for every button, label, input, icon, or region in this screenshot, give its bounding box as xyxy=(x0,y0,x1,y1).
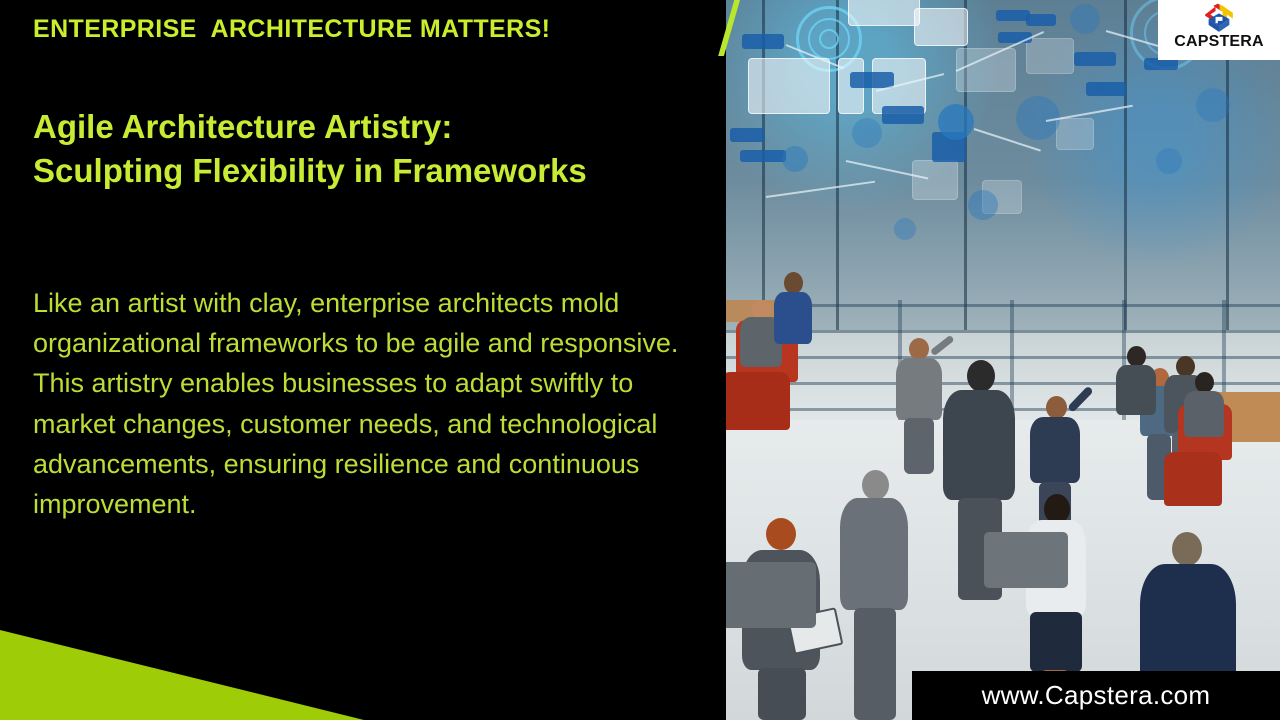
person-seated xyxy=(1114,346,1158,426)
text-panel: ENTERPRISE ARCHITECTURE MATTERS! Agile A… xyxy=(0,0,726,720)
website-url-text: www.Capstera.com xyxy=(982,680,1211,711)
page-title: Agile Architecture Artistry: Sculpting F… xyxy=(33,105,703,192)
body-paragraph: Like an artist with clay, enterprise arc… xyxy=(33,283,698,524)
lounge-bench xyxy=(726,562,816,628)
capstera-cube-logo-icon xyxy=(1199,3,1239,33)
person-standing-pointing xyxy=(892,338,946,474)
website-url-bar[interactable]: www.Capstera.com xyxy=(912,671,1280,720)
lounge-bench xyxy=(984,532,1068,588)
hero-image xyxy=(726,0,1280,720)
logo-wordmark: CAPSTERA xyxy=(1174,34,1264,50)
person-seated xyxy=(772,272,816,368)
eyebrow-heading: ENTERPRISE ARCHITECTURE MATTERS! xyxy=(33,16,693,44)
person-seated xyxy=(1182,372,1226,446)
headline-line-1: Agile Architecture Artistry: xyxy=(33,105,703,149)
headline-line-2: Sculpting Flexibility in Frameworks xyxy=(33,149,703,193)
office-chair xyxy=(1164,452,1222,506)
person-standing-back xyxy=(836,470,912,720)
capstera-logo[interactable]: CAPSTERA xyxy=(1158,0,1280,60)
slide-canvas: ENTERPRISE ARCHITECTURE MATTERS! Agile A… xyxy=(0,0,1280,720)
